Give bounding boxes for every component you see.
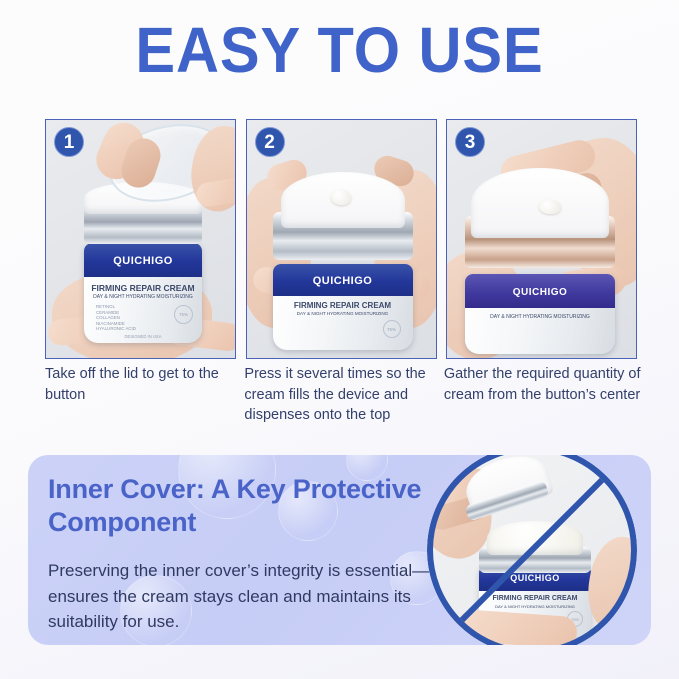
step-badge-3: 3 [455, 127, 485, 157]
step-badge-2: 2 [255, 127, 285, 157]
infographic-page: EASY TO USE QUICHIGO FIRMING REPAIR CREA… [0, 0, 679, 679]
cream-dollop [331, 190, 351, 205]
jar-origin: DESIGNED IN USA [84, 334, 202, 339]
cream-jar: QUICHIGO FIRMING REPAIR CREAM DAY & NIGH… [84, 178, 202, 343]
jar-product-name: FIRMING REPAIR CREAM [273, 301, 413, 310]
step-caption-3: Gather the required quantity of cream fr… [444, 364, 645, 426]
page-title: EASY TO USE [24, 18, 655, 82]
jar-body: QUICHIGO FIRMING REPAIR CREAM DAY & NIGH… [273, 264, 413, 350]
ingredient-item: HYALURONIC ACID [96, 326, 136, 332]
steps-row: QUICHIGO FIRMING REPAIR CREAM DAY & NIGH… [45, 119, 637, 359]
jar-product-name: FIRMING REPAIR CREAM [84, 283, 202, 293]
jar-subtitle: DAY & NIGHT HYDRATING MOISTURIZING [465, 314, 615, 320]
jar-seal-badge: 75% [174, 305, 193, 324]
step-badge-1: 1 [54, 127, 84, 157]
captions-row: Take off the lid to get to the button Pr… [45, 364, 645, 426]
cream-dollop [539, 200, 561, 214]
step-panel-2: QUICHIGO FIRMING REPAIR CREAM DAY & NIGH… [246, 119, 437, 359]
jar-body: QUICHIGO FIRMING REPAIR CREAM DAY & NIGH… [84, 243, 202, 343]
jar-brand: QUICHIGO [465, 287, 615, 298]
card-body-text: Preserving the inner cover’s integrity i… [48, 558, 443, 635]
jar-subtitle: DAY & NIGHT HYDRATING MOISTURIZING [273, 311, 413, 316]
jar-ingredients: RETINOL CERAMIDE COLLAGEN NIACINAMIDE HY… [96, 304, 136, 332]
no-remove-inner-cover-icon: QUICHIGO FIRMING REPAIR CREAM DAY & NIGH… [427, 455, 637, 645]
jar-brand: QUICHIGO [273, 275, 413, 287]
card-heading: Inner Cover: A Key Protective Component [48, 473, 448, 539]
step-caption-1: Take off the lid to get to the button [45, 364, 232, 426]
step-caption-2: Press it several times so the cream fill… [244, 364, 431, 426]
jar-seal-badge: 75% [383, 320, 401, 338]
inner-cover-card: Inner Cover: A Key Protective Component … [28, 455, 651, 645]
step-panel-3: QUICHIGO DAY & NIGHT HYDRATING MOISTURIZ… [446, 119, 637, 359]
jar-subtitle: DAY & NIGHT HYDRATING MOISTURIZING [84, 294, 202, 300]
cream-jar: QUICHIGO FIRMING REPAIR CREAM DAY & NIGH… [273, 170, 413, 350]
jar-body: QUICHIGO DAY & NIGHT HYDRATING MOISTURIZ… [465, 274, 615, 354]
jar-brand: QUICHIGO [84, 255, 202, 267]
step-panel-1: QUICHIGO FIRMING REPAIR CREAM DAY & NIGH… [45, 119, 236, 359]
cream-jar: QUICHIGO DAY & NIGHT HYDRATING MOISTURIZ… [465, 168, 615, 354]
